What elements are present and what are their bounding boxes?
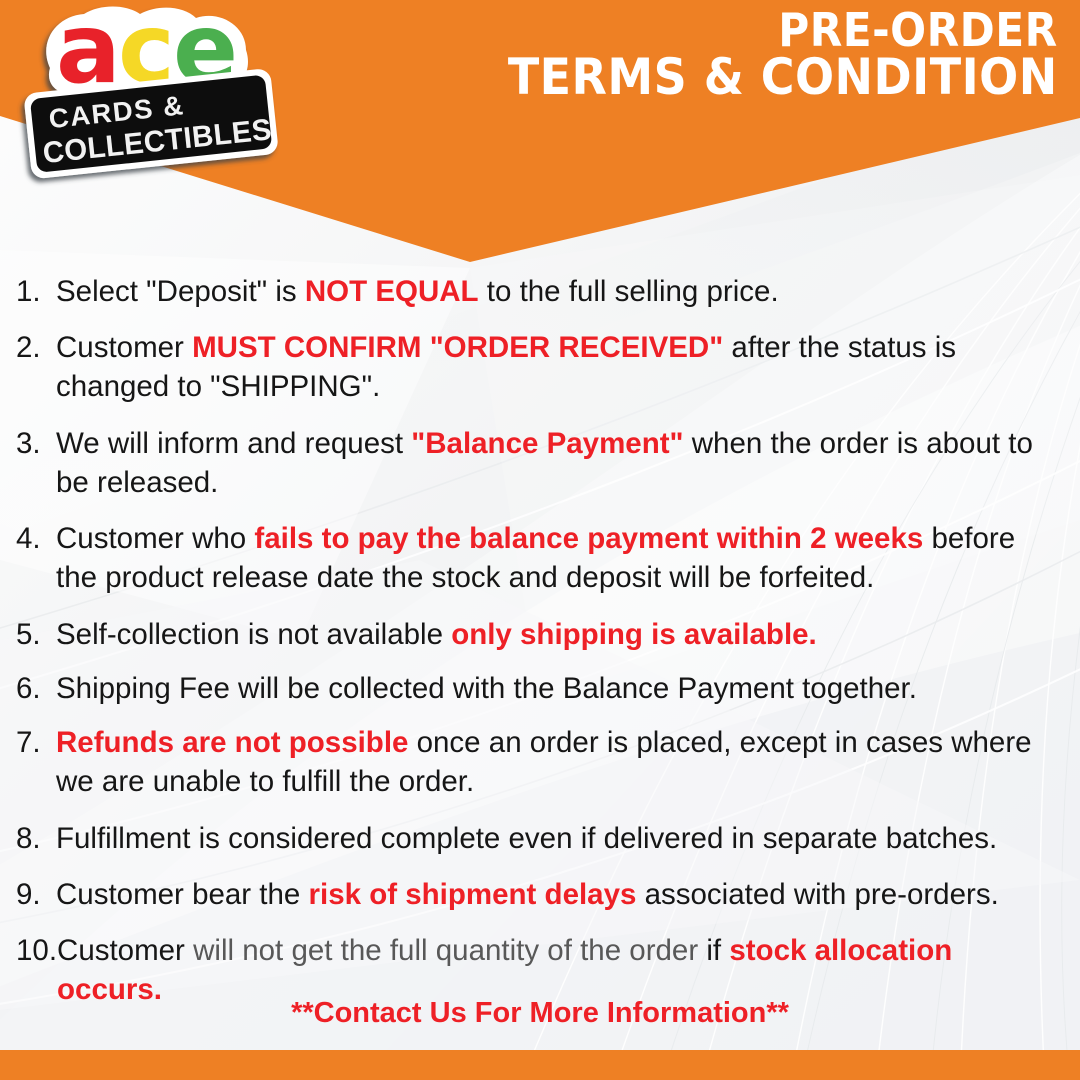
term-number: 4.: [16, 519, 56, 558]
term-fragment: will not get the full quantity of the or…: [185, 934, 706, 967]
term-number: 5.: [16, 615, 56, 654]
term-fragment: Customer bear the: [56, 878, 309, 911]
term-item: 7.Refunds are not possible once an order…: [16, 723, 1064, 801]
term-number: 6.: [16, 669, 56, 708]
term-number: 8.: [16, 819, 56, 858]
term-fragment: associated with pre-orders.: [636, 878, 998, 911]
term-text: Customer who fails to pay the balance pa…: [56, 519, 1064, 597]
term-emphasis: "Balance Payment": [411, 427, 683, 460]
term-item: 3.We will inform and request "Balance Pa…: [16, 424, 1064, 502]
term-number: 7.: [16, 723, 56, 762]
brand-logo-svg: a c e CARDS & COLLECTIBLES: [8, 2, 308, 212]
term-text: Refunds are not possible once an order i…: [56, 723, 1064, 801]
contact-note: **Contact Us For More Information**: [0, 997, 1080, 1030]
term-item: 9.Customer bear the risk of shipment del…: [16, 875, 1064, 914]
term-emphasis: fails to pay the balance payment within …: [254, 522, 923, 555]
term-text: Shipping Fee will be collected with the …: [56, 669, 1064, 708]
term-fragment: Customer: [56, 331, 192, 364]
term-item: 2.Customer MUST CONFIRM "ORDER RECEIVED"…: [16, 328, 1064, 406]
brand-logo[interactable]: a c e CARDS & COLLECTIBLES: [8, 2, 308, 212]
poster-canvas: PRE-ORDER TERMS & CONDITION a c e: [0, 0, 1080, 1080]
term-item: 6.Shipping Fee will be collected with th…: [16, 669, 1064, 708]
term-number: 2.: [16, 328, 56, 367]
term-fragment: Fulfillment is considered complete even …: [56, 822, 997, 855]
page-title: PRE-ORDER TERMS & CONDITION: [460, 8, 1058, 102]
terms-list: 1.Select "Deposit" is NOT EQUAL to the f…: [0, 272, 1080, 1027]
term-item: 5.Self-collection is not available only …: [16, 615, 1064, 654]
footer-bar: [0, 1050, 1080, 1080]
term-item: 1.Select "Deposit" is NOT EQUAL to the f…: [16, 272, 1064, 311]
term-fragment: to the full selling price.: [479, 275, 779, 308]
term-fragment: Self-collection is not available: [56, 618, 451, 651]
term-fragment: Customer: [57, 934, 185, 967]
title-line-1: PRE-ORDER: [508, 8, 1058, 53]
term-number: 1.: [16, 272, 56, 311]
term-text: Select "Deposit" is NOT EQUAL to the ful…: [56, 272, 1064, 311]
term-emphasis: only shipping is available.: [451, 618, 817, 651]
term-text: We will inform and request "Balance Paym…: [56, 424, 1064, 502]
term-number: 3.: [16, 424, 56, 463]
term-item: 4.Customer who fails to pay the balance …: [16, 519, 1064, 597]
term-fragment: Shipping Fee will be collected with the …: [56, 672, 917, 705]
term-text: Customer bear the risk of shipment delay…: [56, 875, 1064, 914]
term-text: Fulfillment is considered complete even …: [56, 819, 1064, 858]
term-fragment: We will inform and request: [56, 427, 411, 460]
term-emphasis: NOT EQUAL: [305, 275, 479, 308]
term-emphasis: MUST CONFIRM "ORDER RECEIVED": [192, 331, 723, 364]
term-number: 10.: [16, 931, 57, 970]
title-line-2: TERMS & CONDITION: [508, 53, 1058, 102]
term-text: Self-collection is not available only sh…: [56, 615, 1064, 654]
term-fragment: if: [706, 934, 729, 967]
term-fragment: Customer who: [56, 522, 254, 555]
term-fragment: Select "Deposit" is: [56, 275, 305, 308]
term-text: Customer MUST CONFIRM "ORDER RECEIVED" a…: [56, 328, 1064, 406]
term-number: 9.: [16, 875, 56, 914]
term-item: 8.Fulfillment is considered complete eve…: [16, 819, 1064, 858]
term-emphasis: Refunds are not possible: [56, 726, 408, 759]
term-emphasis: risk of shipment delays: [309, 878, 637, 911]
